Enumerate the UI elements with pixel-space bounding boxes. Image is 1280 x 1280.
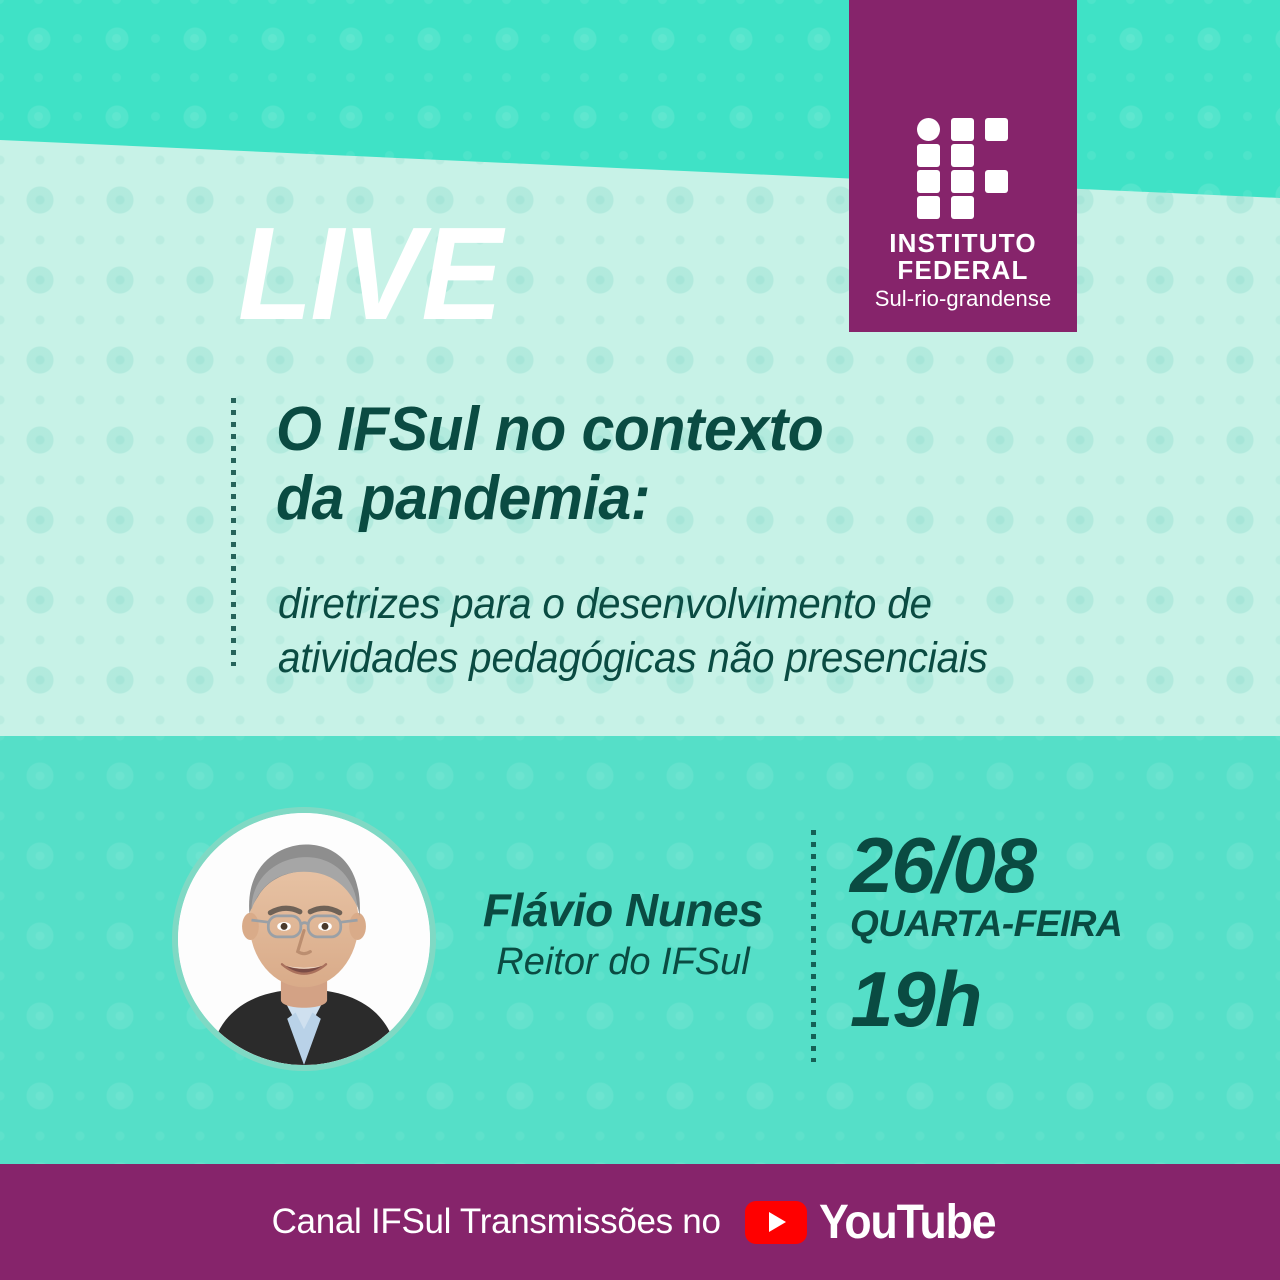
event-date: 26/08 — [850, 830, 1150, 902]
footer-channel-text: Canal IFSul Transmissões no — [272, 1202, 721, 1242]
subheadline: diretrizes para o desenvolvimento de ati… — [278, 578, 1038, 686]
dotted-divider-date — [811, 830, 816, 1062]
speaker-role: Reitor do IFSul — [458, 940, 788, 986]
speaker-info: Flávio Nunes Reitor do IFSul — [458, 886, 788, 986]
live-announcement-poster: INSTITUTO FEDERAL Sul-rio-grandense LIVE… — [0, 0, 1280, 1280]
subheadline-line-2: atividades pedagógicas não presenciais — [278, 632, 992, 686]
speaker-portrait-image — [178, 813, 430, 1065]
event-time: 19h — [850, 960, 1150, 1038]
event-weekday: QUARTA-FEIRA — [850, 904, 1150, 945]
event-datetime: 26/08 QUARTA-FEIRA 19h — [850, 830, 1150, 1038]
headline-line-2: da pandemia: — [276, 464, 941, 533]
speaker-name: Flávio Nunes — [458, 886, 788, 934]
youtube-play-icon — [745, 1201, 807, 1244]
headline: O IFSul no contexto da pandemia: — [276, 395, 976, 534]
youtube-logo[interactable]: YouTube — [745, 1195, 1009, 1250]
live-label: LIVE — [238, 208, 501, 340]
headline-line-1: O IFSul no contexto — [276, 395, 941, 464]
instituto-federal-logo-badge: INSTITUTO FEDERAL Sul-rio-grandense — [849, 0, 1077, 332]
speaker-avatar — [172, 807, 436, 1071]
dotted-divider-title — [231, 398, 236, 666]
if-grid-logo-icon — [917, 118, 1009, 218]
institution-name-line2: FEDERAL — [889, 257, 1037, 284]
subheadline-line-1: diretrizes para o desenvolvimento de — [278, 578, 992, 632]
footer-bar: Canal IFSul Transmissões no YouTube — [0, 1164, 1280, 1280]
institution-name-line1: INSTITUTO — [889, 230, 1037, 257]
institution-subtitle: Sul-rio-grandense — [875, 286, 1052, 312]
institution-name: INSTITUTO FEDERAL — [889, 230, 1037, 283]
youtube-wordmark: YouTube — [819, 1195, 996, 1250]
